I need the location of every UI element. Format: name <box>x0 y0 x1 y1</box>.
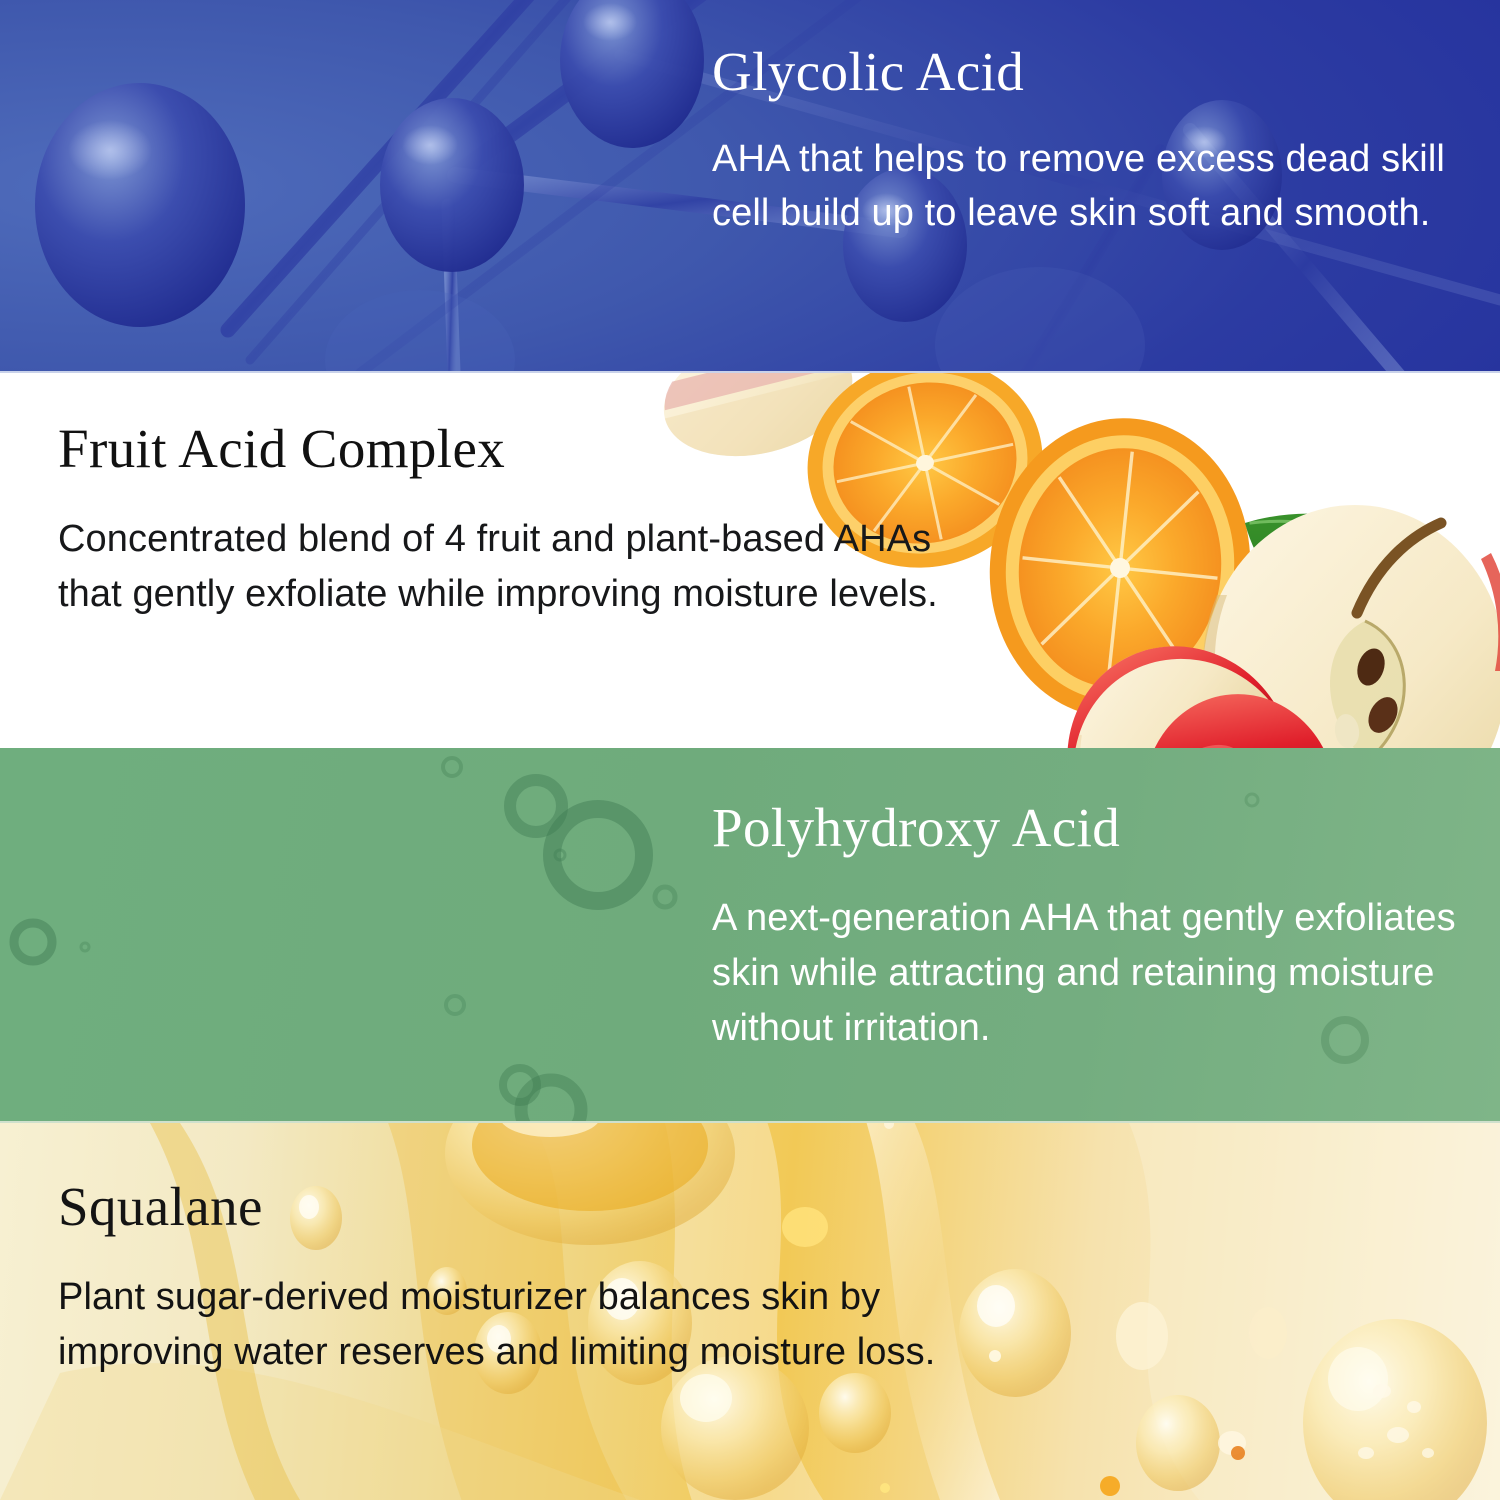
panel-fruit-acid-complex: Fruit Acid Complex Concentrated blend of… <box>0 373 1500 748</box>
panel-description: Concentrated blend of 4 fruit and plant-… <box>58 512 938 622</box>
ingredient-benefits-infographic: Glycolic Acid AHA that helps to remove e… <box>0 0 1500 1500</box>
panel-glycolic-acid: Glycolic Acid AHA that helps to remove e… <box>0 0 1500 373</box>
panel-description: AHA that helps to remove excess dead ski… <box>712 133 1460 241</box>
panel-divider-3 <box>0 1121 1500 1123</box>
panel-title: Fruit Acid Complex <box>58 421 938 476</box>
panel-description: Plant sugar-derived moisturizer balances… <box>58 1270 938 1380</box>
panel-title: Polyhydroxy Acid <box>712 800 1460 855</box>
panel-description: A next-generation AHA that gently exfoli… <box>712 891 1460 1056</box>
panel-squalane: Squalane Plant sugar-derived moisturizer… <box>0 1123 1500 1500</box>
panel-glycolic-acid-text: Glycolic Acid AHA that helps to remove e… <box>712 44 1460 241</box>
panel-polyhydroxy-acid-text: Polyhydroxy Acid A next-generation AHA t… <box>712 800 1460 1056</box>
panel-title: Squalane <box>58 1179 938 1234</box>
panel-polyhydroxy-acid: Polyhydroxy Acid A next-generation AHA t… <box>0 748 1500 1123</box>
panel-fruit-acid-complex-text: Fruit Acid Complex Concentrated blend of… <box>58 421 938 622</box>
panel-squalane-text: Squalane Plant sugar-derived moisturizer… <box>58 1179 938 1380</box>
panel-divider-1 <box>0 371 1500 373</box>
panel-title: Glycolic Acid <box>712 44 1460 99</box>
